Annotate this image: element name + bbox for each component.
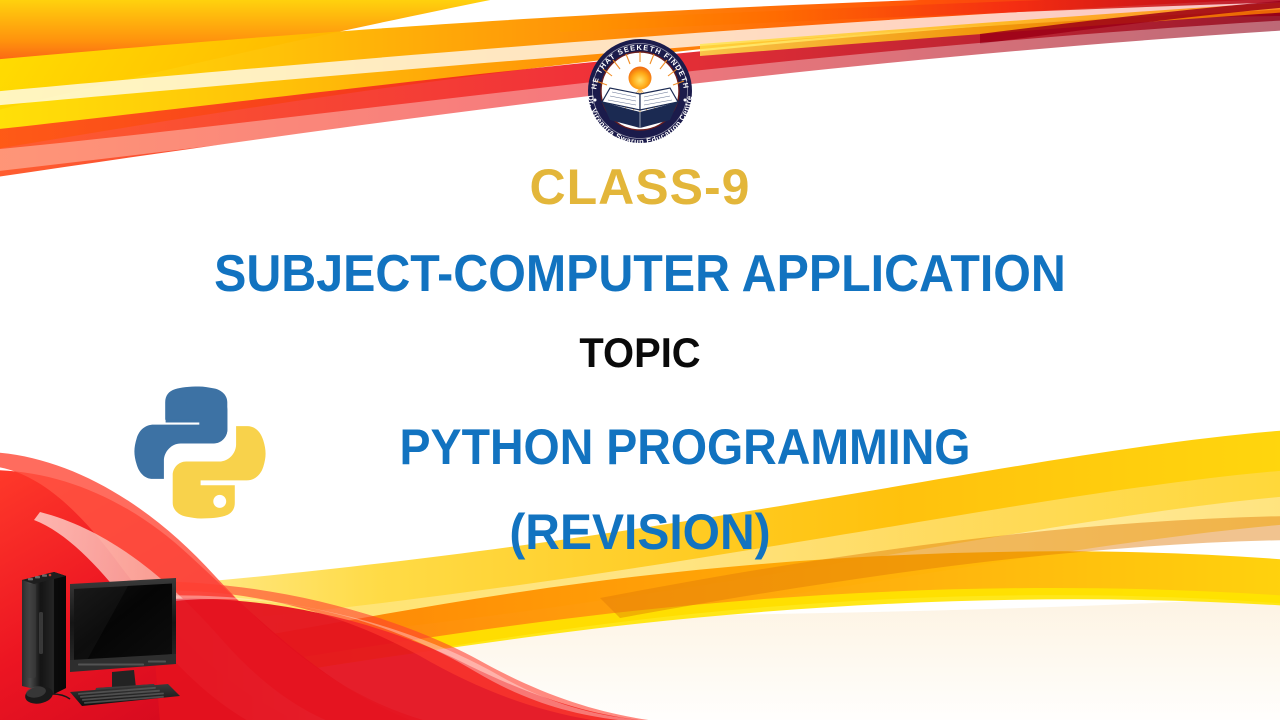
- subject-heading: SUBJECT-COMPUTER APPLICATION: [45, 243, 1235, 305]
- python-logo-icon: [127, 381, 273, 524]
- title-slide: HE THAT SEEKETH FINDETH Dr. Virendra Swa…: [0, 0, 1280, 720]
- desktop-computer-illustration: [8, 556, 190, 716]
- topic-label: TOPIC: [32, 327, 1248, 379]
- school-crest-logo: HE THAT SEEKETH FINDETH Dr. Virendra Swa…: [574, 36, 706, 146]
- class-heading: CLASS-9: [0, 158, 1280, 216]
- python-programming-heading: PYTHON PROGRAMMING: [132, 417, 1239, 477]
